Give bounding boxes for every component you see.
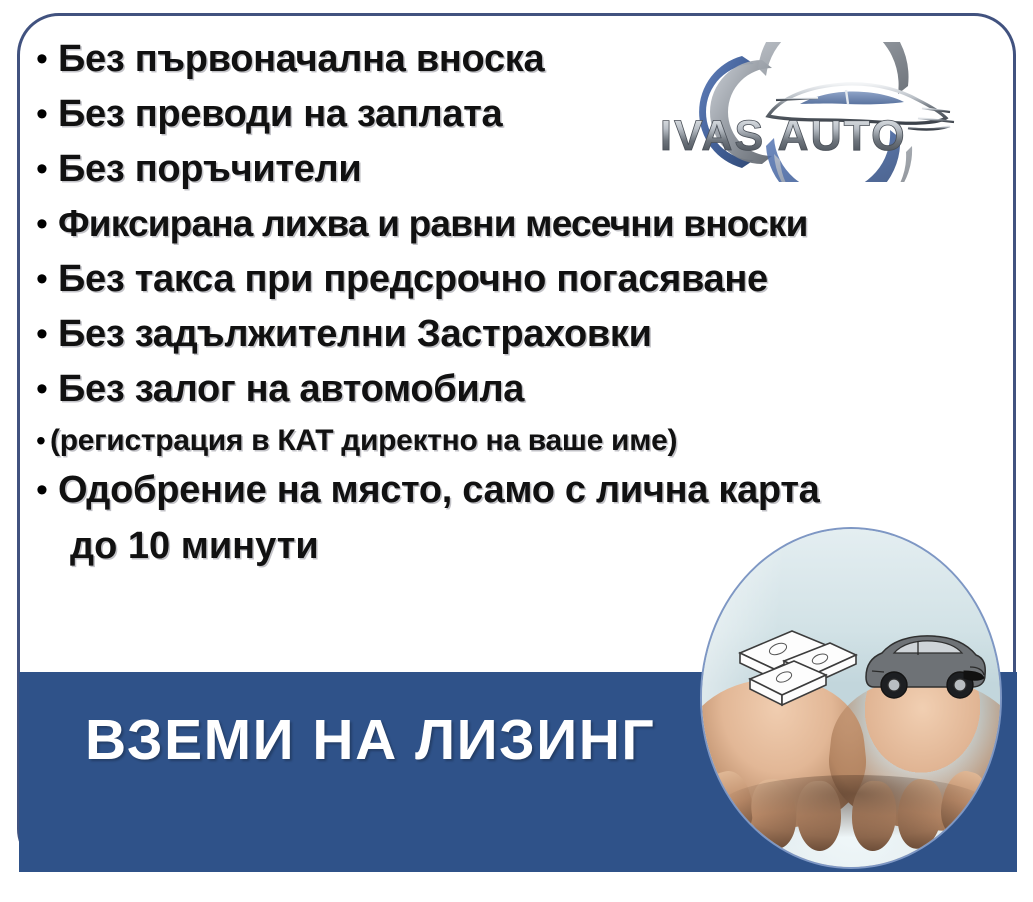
car-sketch-icon (858, 615, 990, 711)
list-item-label: Фиксирана лихва и равни месечни вноски (58, 201, 808, 247)
list-item-label: Без поръчители (58, 146, 361, 192)
list-item: • Фиксирана лихва и равни месечни вноски (36, 201, 996, 247)
list-item: • Без задължителни Застраховки (36, 311, 996, 357)
palm-shadow (720, 775, 990, 837)
bullet-icon: • (36, 421, 50, 461)
list-item-label: Без такса при предсрочно погасяване (58, 256, 768, 302)
list-item-label: (регистрация в КАТ директно на ваше име) (50, 421, 677, 461)
list-item-label: Без първоначална вноска (58, 36, 544, 82)
list-item-note: • (регистрация в КАТ директно на ваше им… (36, 421, 996, 461)
list-item: • Без такса при предсрочно погасяване (36, 256, 996, 302)
list-item-label: Без задължителни Застраховки (58, 311, 652, 357)
logo-wordmark: IVAS AUTO (660, 112, 907, 160)
bullet-icon: • (36, 256, 58, 302)
car-swoosh-logo-icon: IVAS AUTO (650, 42, 980, 182)
list-item: • Одобрение на място, само с лична карта (36, 467, 996, 513)
bullet-icon: • (36, 201, 58, 247)
ivas-auto-logo: IVAS AUTO (650, 42, 980, 182)
cta-banner-label: ВЗЕМИ НА ЛИЗИНГ (85, 708, 655, 772)
bullet-icon: • (36, 311, 58, 357)
list-item: • Без залог на автомобила (36, 366, 996, 412)
bullet-icon: • (36, 36, 58, 82)
bullet-icon: • (36, 91, 58, 137)
bullet-icon: • (36, 146, 58, 192)
bullet-icon: • (36, 366, 58, 412)
bullet-icon: • (36, 467, 58, 513)
hands-holding-money-and-car-photo (700, 527, 1002, 869)
list-item-label: Одобрение на място, само с лична карта (58, 467, 819, 513)
list-item-label: Без преводи на заплата (58, 91, 502, 137)
money-stacks-icon (734, 617, 862, 723)
list-item-label: Без залог на автомобила (58, 366, 524, 412)
advertisement-poster: IVAS AUTO • Без първоначална вноска • Бе… (0, 0, 1033, 902)
